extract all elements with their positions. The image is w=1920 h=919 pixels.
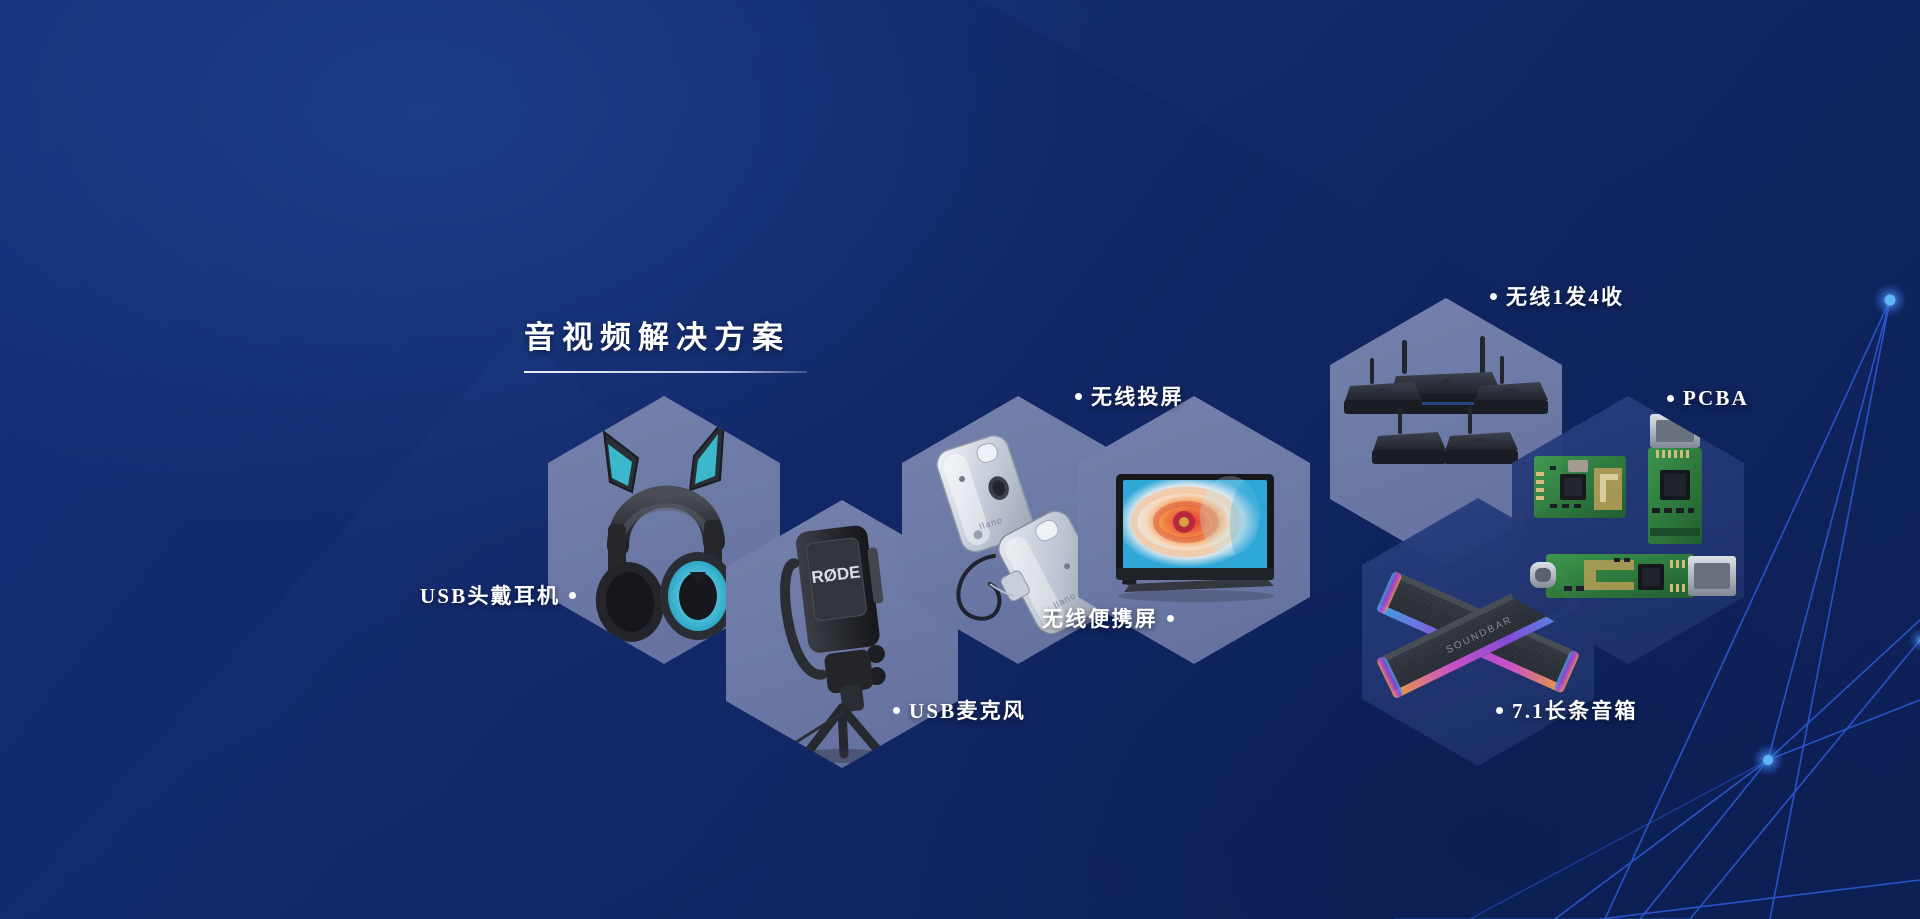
label-wireless-screen-cast-text: 无线投屏 xyxy=(1091,381,1184,411)
bullet-dot xyxy=(1496,707,1503,714)
bullet-dot xyxy=(1667,395,1674,402)
label-soundbar-71: 7.1长条音箱 xyxy=(1496,695,1638,725)
bullet-dot xyxy=(893,707,900,714)
label-wireless-1tx-4rx: 无线1发4收 xyxy=(1490,281,1624,311)
label-usb-microphone-text: USB麦克风 xyxy=(909,695,1026,725)
label-usb-headset: USB头戴耳机 xyxy=(420,580,576,610)
bullet-dot xyxy=(1490,293,1497,300)
label-wireless-1tx-4rx-text: 无线1发4收 xyxy=(1506,281,1624,311)
bullet-dot xyxy=(1075,393,1082,400)
bullet-dot xyxy=(569,592,576,599)
label-usb-headset-text: USB头戴耳机 xyxy=(420,580,560,610)
bullet-dot xyxy=(1167,615,1174,622)
label-pcba: PCBA xyxy=(1667,386,1749,411)
label-wireless-screen-cast: 无线投屏 xyxy=(1075,381,1184,411)
product-hex-grid: RØDE xyxy=(0,0,1920,919)
label-soundbar-71-text: 7.1长条音箱 xyxy=(1512,695,1638,725)
label-wireless-portable-screen: 无线便携屏 xyxy=(1042,603,1174,633)
label-pcba-text: PCBA xyxy=(1683,386,1749,411)
label-usb-microphone: USB麦克风 xyxy=(893,695,1026,725)
label-wireless-portable-screen-text: 无线便携屏 xyxy=(1042,603,1158,633)
